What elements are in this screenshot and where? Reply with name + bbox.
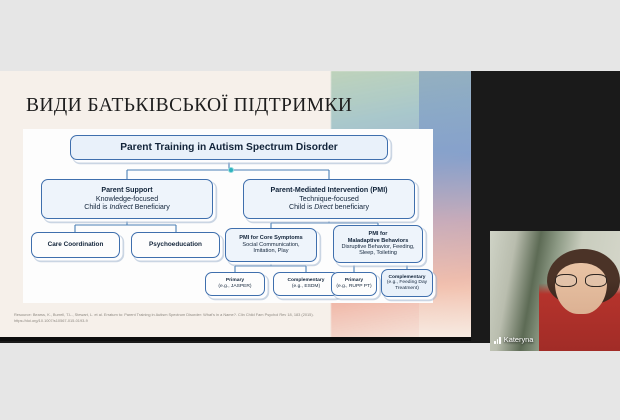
diagram-node-pmi-maladaptive: PMI for Maladaptive Behaviors Disruptive… xyxy=(333,225,423,263)
diagram-node-pmi-core-symptoms: PMI for Core Symptoms Social Communicati… xyxy=(225,228,317,262)
participant-name-overlay: Kateryna xyxy=(494,335,533,344)
diagram-leaf-primary-jasper: Primary (e.g., JASPER) xyxy=(205,272,265,296)
pmi-title: Parent-Mediated Intervention (PMI) xyxy=(270,187,387,195)
diagram-node-root: Parent Training in Autism Spectrum Disor… xyxy=(70,135,388,160)
diagram-node-care-coordination: Care Coordination xyxy=(31,232,120,258)
parent-support-line3: Child is Indirect Beneficiary xyxy=(84,203,170,211)
parent-support-title: Parent Support xyxy=(101,187,152,195)
leaf-example: (e.g., JASPER) xyxy=(218,284,251,290)
pmi-maladaptive-line3: Sleep, Toileting xyxy=(359,250,397,256)
leaf-example-line2: Treatment) xyxy=(395,286,419,292)
participant-glasses xyxy=(555,274,607,287)
diagram-figure: Parent Training in Autism Spectrum Disor… xyxy=(23,129,433,303)
slide-title: ВИДИ БАТЬКІВСЬКОЇ ПІДТРИМКИ xyxy=(26,95,352,117)
diagram-leaf-primary-rupp: Primary (e.g., RUPP PT) xyxy=(331,272,377,296)
participant-name: Kateryna xyxy=(504,335,534,344)
pmi-line3: Child is Direct beneficiary xyxy=(289,203,369,211)
connector-marker-dot xyxy=(228,167,234,173)
participant-video-tile[interactable]: Kateryna xyxy=(490,231,620,351)
diagram-node-pmi: Parent-Mediated Intervention (PMI) Techn… xyxy=(243,179,415,219)
pmi-line2: Technique-focused xyxy=(299,195,359,203)
caption-doi-link[interactable]: https://doi.org/10.1007/s10567-015-0193-… xyxy=(14,318,404,324)
leaf-example: (e.g., RUPP PT) xyxy=(336,284,371,290)
psychoeducation-label: Psychoeducation xyxy=(149,241,202,248)
leaf-example: (e.g., ESDM) xyxy=(292,284,320,290)
diagram-leaf-complementary-esdm: Complementary (e.g., ESDM) xyxy=(273,272,339,296)
pmi-core-line3: Imitation, Play xyxy=(253,248,288,254)
slide-bottom-edge xyxy=(0,337,471,341)
shared-screen-stage: ВИДИ БАТЬКІВСЬКОЇ ПІДТРИМКИ xyxy=(0,71,620,343)
parent-support-line2: Knowledge-focused xyxy=(96,195,158,203)
care-coordination-label: Care Coordination xyxy=(48,241,104,248)
meeting-window: ВИДИ БАТЬКІВСЬКОЇ ПІДТРИМКИ xyxy=(0,0,620,420)
diagram-leaf-complementary-feeding: Complementary (e.g., Feeding Day Treatme… xyxy=(381,269,433,297)
signal-bars-icon xyxy=(494,337,501,344)
presentation-slide: ВИДИ БАТЬКІВСЬКОЇ ПІДТРИМКИ xyxy=(0,71,471,341)
participant-face xyxy=(555,263,607,313)
diagram-node-parent-support: Parent Support Knowledge-focused Child i… xyxy=(41,179,213,219)
diagram-node-psychoeducation: Psychoeducation xyxy=(131,232,220,258)
root-label: Parent Training in Autism Spectrum Disor… xyxy=(120,142,338,153)
slide-caption: Resource: Bearss, K., Burrell, T.L., Ste… xyxy=(14,312,404,324)
